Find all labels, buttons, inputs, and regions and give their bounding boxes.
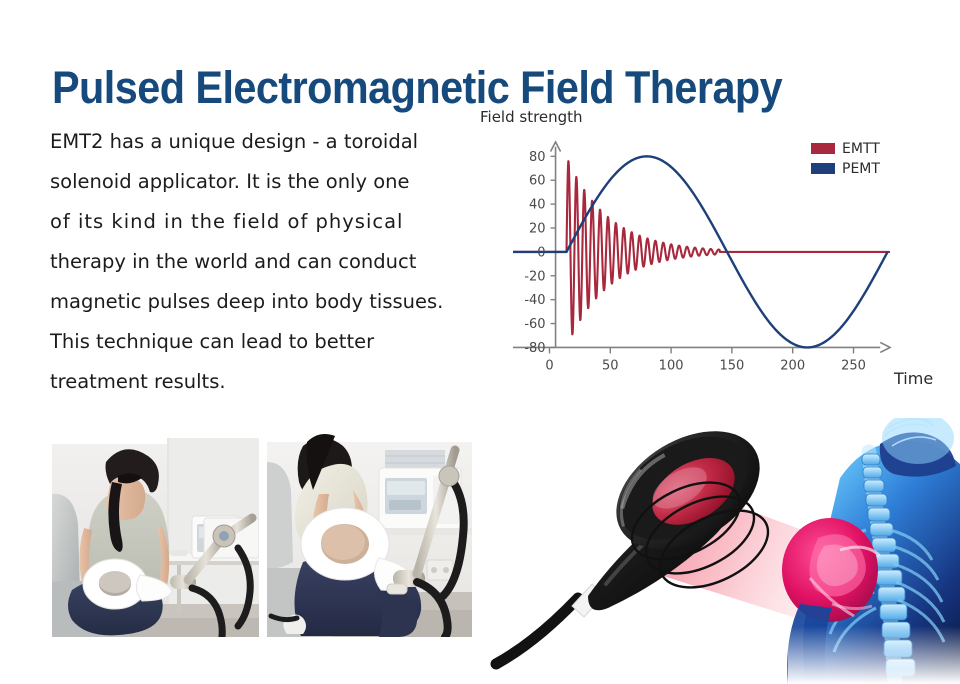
y-tick-label: -80 (524, 341, 545, 356)
x-tick-label: 100 (659, 358, 684, 373)
description-line: therapy in the world and can conduct (50, 242, 462, 282)
description-line: EMT2 has a unique design - a toroidal (50, 122, 462, 162)
x-tick-label: 50 (602, 358, 619, 373)
therapy-photo-side-treatment (267, 432, 472, 637)
therapy-photo-back-treatment (52, 432, 259, 637)
illustration-graphic (488, 418, 960, 684)
x-tick-label: 0 (545, 358, 553, 373)
chart-axis-title-x: Time (893, 369, 933, 388)
legend-label-pemt: PEMT (842, 162, 880, 176)
pemf-applicator-illustration (488, 418, 960, 684)
chart-series (513, 156, 890, 347)
legend-swatch-emtt (811, 143, 835, 154)
legend-item-emtt: EMTT (811, 140, 880, 157)
description-line: of its kind in the field of physical (50, 202, 462, 242)
photo-1-graphic (52, 432, 259, 637)
description-line: solenoid applicator. It is the only one (50, 162, 462, 202)
field-strength-chart: Field strength 806040200-20-40-60-800501… (470, 104, 940, 400)
y-tick-label: -40 (524, 293, 545, 308)
legend-item-pemt: PEMT (811, 160, 880, 177)
chart-legend: EMTT PEMT (811, 140, 880, 180)
y-tick-label: 80 (529, 150, 546, 165)
y-tick-label: -20 (524, 269, 545, 284)
description-line: magnetic pulses deep into body tissues. (50, 282, 462, 322)
x-tick-label: 200 (780, 358, 805, 373)
y-tick-label: 60 (529, 174, 546, 189)
description-line: This technique can lead to better (50, 322, 462, 362)
y-tick-label: 0 (537, 245, 545, 260)
y-tick-label: 40 (529, 198, 546, 213)
y-tick-label: 20 (529, 222, 546, 237)
x-tick-label: 150 (719, 358, 744, 373)
y-tick-label: -60 (524, 317, 545, 332)
legend-swatch-pemt (811, 163, 835, 174)
x-tick-label: 250 (841, 358, 866, 373)
description-paragraph: EMT2 has a unique design - a toroidal so… (50, 122, 462, 402)
promo-page: Pulsed Electromagnetic Field Therapy EMT… (0, 0, 960, 684)
legend-label-emtt: EMTT (842, 142, 880, 156)
photo-2-graphic (267, 432, 472, 637)
description-line: treatment results. (50, 362, 462, 402)
